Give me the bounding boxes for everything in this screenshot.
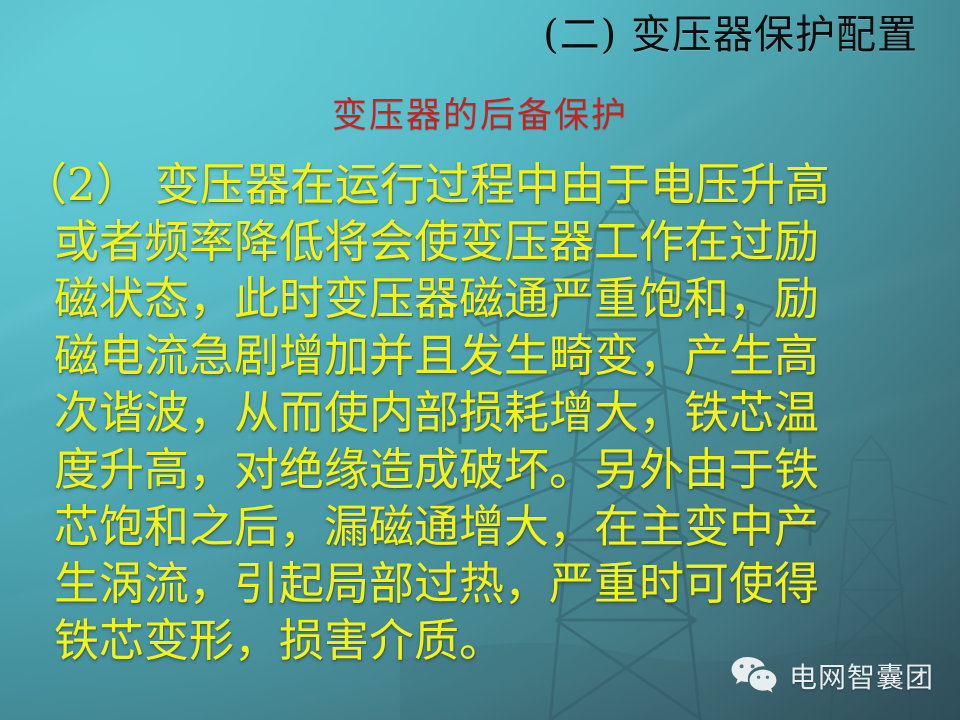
body-line: 度升高，对绝缘造成破坏。另外由于铁 xyxy=(22,441,938,498)
body-line: （2） 变压器在运行过程中由于电压升高 xyxy=(22,156,938,213)
body-line: 或者频率降低将会使变压器工作在过励 xyxy=(22,213,938,270)
presentation-slide: (二) 变压器保护配置 变压器的后备保护 （2） 变压器在运行过程中由于电压升高… xyxy=(0,0,960,720)
body-line: 芯饱和之后，漏磁通增大，在主变中产 xyxy=(22,498,938,555)
watermark: 电网智囊团 xyxy=(731,656,934,696)
slide-subtitle: 变压器的后备保护 xyxy=(0,96,960,136)
body-line: 生涡流，引起局部过热，严重时可使得 xyxy=(22,555,938,612)
body-line: 磁电流急剧增加并且发生畸变，产生高 xyxy=(22,327,938,384)
wechat-icon xyxy=(731,657,777,695)
slide-body: （2） 变压器在运行过程中由于电压升高 或者频率降低将会使变压器工作在过励 磁状… xyxy=(22,156,938,669)
slide-title: (二) 变压器保护配置 xyxy=(543,12,918,58)
watermark-label: 电网智囊团 xyxy=(789,656,934,696)
body-line: 磁状态，此时变压器磁通严重饱和，励 xyxy=(22,270,938,327)
body-line: 次谐波，从而使内部损耗增大，铁芯温 xyxy=(22,384,938,441)
